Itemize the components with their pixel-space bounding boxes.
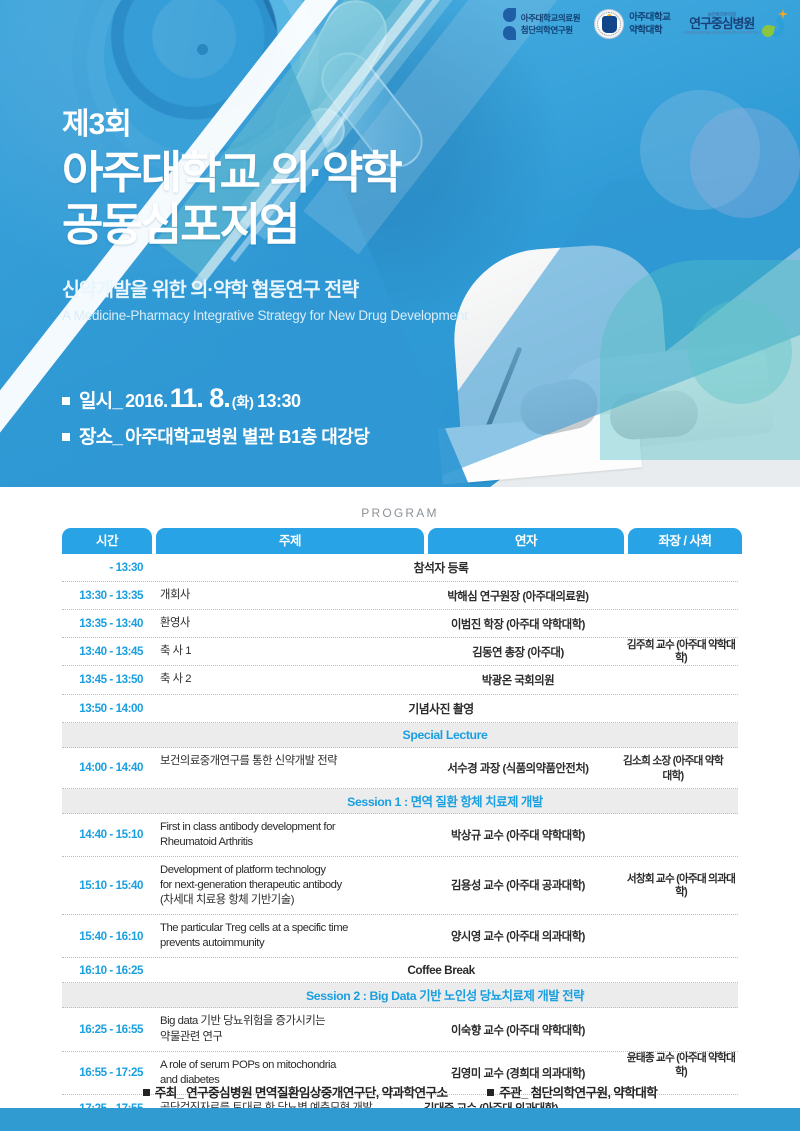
cell-topic: 개회사 <box>152 582 420 609</box>
place-value: 아주대학교병원 별관 B1층 대강당 <box>125 423 369 449</box>
host-value: 연구중심병원 면역질환임상중개연구단, 약과학연구소 <box>186 1086 447 1100</box>
logo-ajou-medical-center: 아주대학교의료원 첨단의학연구원 <box>503 8 580 40</box>
logo-ajou-medical-center-text: 아주대학교의료원 첨단의학연구원 <box>521 12 580 37</box>
section-banner-label: Special Lecture <box>152 723 738 747</box>
decorative-circle <box>688 300 792 404</box>
logo-ajou-college-of-pharmacy: 아주대학교 약학대학 <box>594 9 670 39</box>
poster-title-line2: 공동심포지엄 <box>62 199 468 251</box>
cell-time <box>62 983 152 1007</box>
topic-line: Development of platform technology <box>160 863 416 878</box>
square-bullet-icon <box>62 397 70 405</box>
logo-rdh-sub: KOREA RESEARCH-DRIVEN HOSPITAL <box>684 31 759 35</box>
cell-time: 15:40 - 16:10 <box>62 915 152 957</box>
subtitle-english: A Medicine-Pharmacy Integrative Strategy… <box>62 308 468 323</box>
cell-topic: First in class antibody development forR… <box>152 814 420 856</box>
place-label: 장소_ <box>79 422 122 449</box>
topic-line: 축 사 1 <box>160 644 416 659</box>
topic-line: The particular Treg cells at a specific … <box>160 921 416 936</box>
organizer-value: 첨단의학연구원, 약학대학 <box>531 1086 658 1100</box>
table-row: 15:10 - 15:40Development of platform tec… <box>62 857 738 915</box>
cell-speaker: 박상규 교수 (아주대 약학대학) <box>420 814 616 856</box>
cell-chair <box>616 638 730 665</box>
cell-time: 13:50 - 14:00 <box>62 695 152 722</box>
cell-speaker: 양시영 교수 (아주대 의과대학) <box>420 915 616 957</box>
cell-time: 13:30 - 13:35 <box>62 582 152 609</box>
logo-pharmacy-text: 아주대학교 약학대학 <box>629 11 670 38</box>
cell-speaker: 김동연 총장 (아주대) <box>420 638 616 665</box>
topic-line: 환영사 <box>160 616 416 631</box>
program-table-body: - 13:30참석자 등록13:30 - 13:35개회사박해심 연구원장 (아… <box>62 554 738 1131</box>
cell-topic: Big data 기반 당뇨위험을 증가시키는약물관련 연구 <box>152 1008 420 1050</box>
pharmacy-seal-icon <box>594 9 624 39</box>
topic-line: prevents autoimmunity <box>160 936 416 951</box>
cell-topic: The particular Treg cells at a specific … <box>152 915 420 957</box>
edition-label: 제3회 <box>62 108 468 143</box>
cell-time: 16:25 - 16:55 <box>62 1008 152 1050</box>
cell-time <box>62 789 152 813</box>
date-day-month: 11. 8. <box>170 383 230 414</box>
topic-line: First in class antibody development for <box>160 820 416 835</box>
logo-rdh-text: 보건복지부지정 연구중심병원 KOREA RESEARCH-DRIVEN HOS… <box>684 13 759 36</box>
cell-topic: 환영사 <box>152 610 420 637</box>
cell-time: 14:00 - 14:40 <box>62 748 152 788</box>
date-year: 2016. <box>125 391 168 412</box>
ajou-medical-center-mark-icon <box>503 8 516 40</box>
host-label: 주최_ <box>155 1086 183 1100</box>
bottom-accent-bar <box>0 1108 800 1131</box>
column-header-time: 시간 <box>62 528 152 554</box>
cell-chair <box>616 1008 730 1050</box>
poster-title-line1: 아주대학교 의·약학 <box>62 147 468 199</box>
cell-time <box>62 723 152 747</box>
table-row: 16:25 - 16:55Big data 기반 당뇨위험을 증가시키는약물관련… <box>62 1008 738 1051</box>
column-header-speaker: 연자 <box>428 528 624 554</box>
cell-speaker: 김용성 교수 (아주대 공과대학) <box>420 857 616 914</box>
cell-time: 15:10 - 15:40 <box>62 857 152 914</box>
topic-line: (차세대 치료용 항체 기반기술) <box>160 893 416 908</box>
cell-speaker: 서수경 과장 (식품의약품안전처) <box>420 748 616 788</box>
table-row: 13:35 - 13:40환영사이범진 학장 (아주대 약학대학) <box>62 610 738 638</box>
topic-line: Rheumatoid Arthritis <box>160 835 416 850</box>
topic-line: 축 사 2 <box>160 672 416 687</box>
cell-speaker: 이범진 학장 (아주대 약학대학) <box>420 610 616 637</box>
logo-amc-line1: 아주대학교의료원 <box>521 12 580 24</box>
cell-time: 13:40 - 13:45 <box>62 638 152 665</box>
cell-centered-label: 기념사진 촬영 <box>152 695 730 722</box>
table-row: 15:40 - 16:10The particular Treg cells a… <box>62 915 738 958</box>
date-label: 일시_ <box>79 386 122 413</box>
cell-topic: 보건의료중개연구를 통한 신약개발 전략 <box>152 748 420 788</box>
cell-speaker: 이숙향 교수 (아주대 약학대학) <box>420 1008 616 1050</box>
poster-root: 아주대학교의료원 첨단의학연구원 아주대학교 약학대학 보건복지부지정 <box>0 0 800 1131</box>
cell-time: 14:40 - 15:10 <box>62 814 152 856</box>
cell-topic: 축 사 1 <box>152 638 420 665</box>
table-row: 13:45 - 13:50축 사 2박광온 국회의원 <box>62 666 738 694</box>
logo-pharmacy-line2: 약학대학 <box>629 24 670 37</box>
program-label: PROGRAM <box>0 506 800 520</box>
table-row: Session 1 : 면역 질환 항체 치료제 개발 <box>62 789 738 814</box>
organizer-label: 주관_ <box>499 1086 527 1100</box>
logo-research-driven-hospital: 보건복지부지정 연구중심병원 KOREA RESEARCH-DRIVEN HOS… <box>684 9 788 39</box>
cell-chair <box>616 915 730 957</box>
section-banner-label: Session 1 : 면역 질환 항체 치료제 개발 <box>152 789 738 813</box>
cell-chair <box>616 666 730 693</box>
table-row: 13:40 - 13:45축 사 1김동연 총장 (아주대) <box>62 638 738 666</box>
date-weekday: (화) <box>232 392 254 412</box>
cell-time: - 13:30 <box>62 554 152 581</box>
topic-line: 약물관련 연구 <box>160 1030 416 1045</box>
square-bullet-icon <box>62 433 70 441</box>
cell-time: 13:35 - 13:40 <box>62 610 152 637</box>
topic-line: 개회사 <box>160 588 416 603</box>
program-table-header: 시간 주제 연자 좌장 / 사회 <box>62 528 738 554</box>
date-time: 13:30 <box>257 391 301 412</box>
cell-centered-label: Coffee Break <box>152 958 730 982</box>
table-row: 13:30 - 13:35개회사박해심 연구원장 (아주대의료원) <box>62 582 738 610</box>
decorative-circle <box>690 108 800 218</box>
logo-bar: 아주대학교의료원 첨단의학연구원 아주대학교 약학대학 보건복지부지정 <box>503 8 788 40</box>
cell-chair <box>616 610 730 637</box>
table-row: 14:00 - 14:40보건의료중개연구를 통한 신약개발 전략서수경 과장 … <box>62 748 738 789</box>
cell-chair <box>616 857 730 914</box>
cell-time: 13:45 - 13:50 <box>62 666 152 693</box>
table-row: Session 2 : Big Data 기반 노인성 당뇨치료제 개발 전략 <box>62 983 738 1008</box>
square-bullet-icon <box>487 1089 494 1096</box>
table-row: 16:10 - 16:25Coffee Break <box>62 958 738 983</box>
hero-text-block: 제3회 아주대학교 의·약학 공동심포지엄 신약개발을 위한 의·약학 협동연구… <box>62 108 468 323</box>
topic-line: for next-generation therapeutic antibody <box>160 878 416 893</box>
logo-rdh-main: 연구중심병원 <box>684 17 759 31</box>
event-date-line: 일시_ 2016. 11. 8. (화) 13:30 <box>62 383 369 414</box>
topic-line: A role of serum POPs on mitochondria <box>160 1058 416 1073</box>
subtitle-korean: 신약개발을 위한 의·약학 협동연구 전략 <box>62 273 468 302</box>
event-place-line: 장소_ 아주대학교병원 별관 B1층 대강당 <box>62 422 369 449</box>
cell-topic: Development of platform technologyfor ne… <box>152 857 420 914</box>
topic-line: 보건의료중개연구를 통한 신약개발 전략 <box>160 754 416 769</box>
program-table: 시간 주제 연자 좌장 / 사회 - 13:30참석자 등록13:30 - 13… <box>62 528 738 1131</box>
column-header-topic: 주제 <box>156 528 424 554</box>
table-row: Special Lecture <box>62 723 738 748</box>
cell-chair: 김소희 소장 (아주대 약학대학) <box>616 748 730 788</box>
column-header-chair: 좌장 / 사회 <box>628 528 742 554</box>
section-banner-label: Session 2 : Big Data 기반 노인성 당뇨치료제 개발 전략 <box>152 983 738 1007</box>
logo-amc-line2: 첨단의학연구원 <box>521 24 580 36</box>
event-info-block: 일시_ 2016. 11. 8. (화) 13:30 장소_ 아주대학교병원 별… <box>62 383 369 457</box>
table-row: 14:40 - 15:10First in class antibody dev… <box>62 814 738 857</box>
logo-pharmacy-line1: 아주대학교 <box>629 11 670 24</box>
hero-banner: 아주대학교의료원 첨단의학연구원 아주대학교 약학대학 보건복지부지정 <box>0 0 800 487</box>
topic-line: Big data 기반 당뇨위험을 증가시키는 <box>160 1014 416 1029</box>
table-row: 13:50 - 14:00기념사진 촬영 <box>62 695 738 723</box>
cell-time: 16:10 - 16:25 <box>62 958 152 982</box>
organizer-line: 주최_ 연구중심병원 면역질환임상중개연구단, 약과학연구소 주관_ 첨단의학연… <box>0 1082 800 1101</box>
cell-chair <box>616 582 730 609</box>
cell-speaker: 박광온 국회의원 <box>420 666 616 693</box>
cell-topic: 축 사 2 <box>152 666 420 693</box>
rdh-swoosh-icon <box>762 9 788 39</box>
table-row: - 13:30참석자 등록 <box>62 554 738 582</box>
cell-centered-label: 참석자 등록 <box>152 554 730 581</box>
square-bullet-icon <box>143 1089 150 1096</box>
cell-speaker: 박해심 연구원장 (아주대의료원) <box>420 582 616 609</box>
cell-chair <box>616 814 730 856</box>
